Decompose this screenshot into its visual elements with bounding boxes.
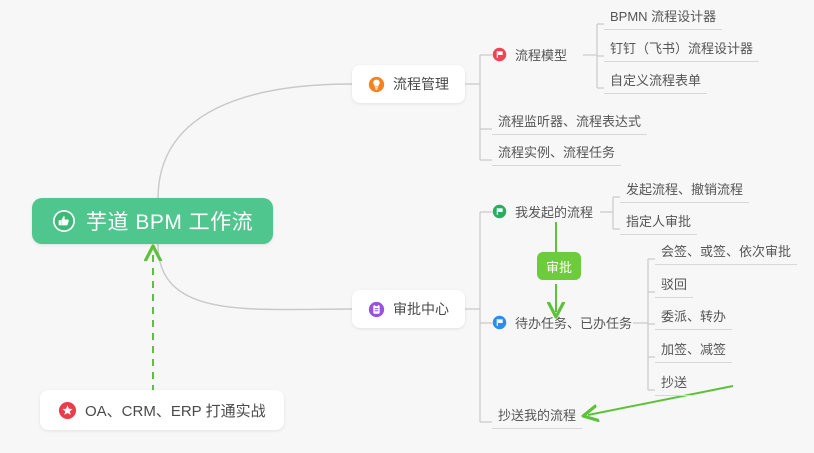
leaf-label: 钉钉（飞书）流程设计器 bbox=[610, 38, 753, 57]
flag-icon-green bbox=[492, 204, 507, 219]
node-my-started-processes[interactable]: 我发起的流程 bbox=[492, 202, 593, 221]
edge-root-to-process-management bbox=[158, 84, 352, 199]
node-process-model[interactable]: 流程模型 bbox=[492, 45, 567, 64]
node-label-todo-done-tasks: 待办任务、已办任务 bbox=[515, 313, 632, 332]
leaf-countersign-orsign-sequential[interactable]: 会签、或签、依次审批 bbox=[655, 245, 797, 265]
leaf-custom-process-form[interactable]: 自定义流程表单 bbox=[604, 74, 707, 94]
node-todo-done-tasks[interactable]: 待办任务、已办任务 bbox=[492, 313, 632, 332]
node-label-my-started-processes: 我发起的流程 bbox=[515, 202, 593, 221]
leaf-dingtalk-feishu-designer[interactable]: 钉钉（飞书）流程设计器 bbox=[604, 42, 759, 62]
root-label: 芋道 BPM 工作流 bbox=[86, 206, 253, 236]
branch-node-process-management[interactable]: 流程管理 bbox=[352, 65, 465, 103]
leaf-label: 发起流程、撤销流程 bbox=[626, 179, 743, 198]
edge-root-to-approval-center bbox=[158, 244, 352, 310]
badge-approval: 审批 bbox=[537, 252, 581, 280]
leaf-label: 自定义流程表单 bbox=[610, 70, 701, 89]
leaf-label: 抄送 bbox=[661, 372, 687, 391]
branch-node-approval-center[interactable]: 审批中心 bbox=[352, 290, 465, 328]
leaf-designated-approver[interactable]: 指定人审批 bbox=[620, 215, 697, 235]
leaf-label: 流程实例、流程任务 bbox=[498, 142, 615, 161]
root-node[interactable]: 芋道 BPM 工作流 bbox=[32, 198, 273, 244]
lightbulb-icon bbox=[368, 76, 385, 93]
star-icon bbox=[58, 401, 77, 420]
clipboard-icon bbox=[368, 301, 385, 318]
leaf-reject[interactable]: 驳回 bbox=[655, 278, 693, 298]
leaf-add-remove-sign[interactable]: 加签、减签 bbox=[655, 343, 732, 363]
leaf-bpmn-designer[interactable]: BPMN 流程设计器 bbox=[604, 10, 722, 30]
leaf-label: 委派、转办 bbox=[661, 306, 726, 325]
leaf-process-listener-expression[interactable]: 流程监听器、流程表达式 bbox=[492, 115, 647, 135]
leaf-label: 流程监听器、流程表达式 bbox=[498, 111, 641, 130]
flag-icon-red bbox=[492, 47, 507, 62]
leaf-process-instance-task[interactable]: 流程实例、流程任务 bbox=[492, 146, 621, 166]
thumbs-up-icon bbox=[52, 209, 76, 233]
callout-node-oa-crm-erp[interactable]: OA、CRM、ERP 打通实战 bbox=[40, 390, 284, 430]
leaf-start-cancel-process[interactable]: 发起流程、撤销流程 bbox=[620, 183, 749, 203]
leaf-label: 驳回 bbox=[661, 274, 687, 293]
leaf-cc-to-me-process[interactable]: 抄送我的流程 bbox=[492, 409, 582, 429]
leaf-label: BPMN 流程设计器 bbox=[610, 6, 716, 25]
flag-icon-blue bbox=[492, 315, 507, 330]
node-label-process-model: 流程模型 bbox=[515, 45, 567, 64]
leaf-delegate-transfer[interactable]: 委派、转办 bbox=[655, 310, 732, 330]
mindmap-canvas: 芋道 BPM 工作流 OA、CRM、ERP 打通实战 流程管理 bbox=[0, 0, 814, 453]
leaf-carbon-copy[interactable]: 抄送 bbox=[655, 376, 693, 396]
leaf-label: 指定人审批 bbox=[626, 211, 691, 230]
branch-label-process-management: 流程管理 bbox=[393, 74, 449, 94]
leaf-label: 抄送我的流程 bbox=[498, 405, 576, 424]
leaf-label: 会签、或签、依次审批 bbox=[661, 241, 791, 260]
badge-label: 审批 bbox=[546, 257, 572, 276]
leaf-label: 加签、减签 bbox=[661, 339, 726, 358]
callout-label: OA、CRM、ERP 打通实战 bbox=[85, 400, 266, 421]
branch-label-approval-center: 审批中心 bbox=[393, 299, 449, 319]
